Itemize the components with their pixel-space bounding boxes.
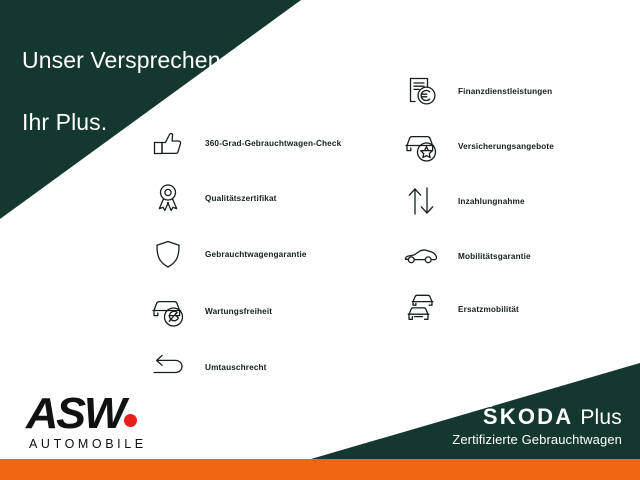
feature-label: Wartungsfreiheit xyxy=(205,306,272,317)
brand-lockup: ŠKODA Plus Zertifizierte Gebrauchtwagen xyxy=(452,405,622,448)
dealer-logo: ASW AUTOMOBILE xyxy=(26,392,186,451)
feature-label: Umtauschrecht xyxy=(205,362,267,373)
brand-program-label: Plus xyxy=(580,406,622,430)
feature-item-maintenance-free: Wartungsfreiheit xyxy=(145,288,272,334)
dealer-subtitle: AUTOMOBILE xyxy=(29,437,186,451)
headline-line-1: Unser Versprechen. xyxy=(22,45,227,76)
thumbs-up-icon xyxy=(145,120,191,166)
feature-label: Versicherungsangebote xyxy=(458,141,554,152)
car-side-icon xyxy=(398,233,444,279)
up-down-arrows-icon xyxy=(398,178,444,224)
feature-label: Mobilitätsgarantie xyxy=(458,251,531,262)
car-star-icon xyxy=(398,123,444,169)
car-wrench-icon xyxy=(145,288,191,334)
feature-label: Gebrauchtwagengarantie xyxy=(205,249,307,260)
orange-bottom-bar xyxy=(0,459,640,480)
feature-item-trade-in: Inzahlungnahme xyxy=(398,178,525,224)
dealer-logo-dot xyxy=(124,414,137,427)
feature-label: Ersatzmobilität xyxy=(458,304,519,315)
feature-label: Inzahlungnahme xyxy=(458,196,525,207)
feature-item-return-right: Umtauschrecht xyxy=(145,344,267,390)
feature-item-warranty: Gebrauchtwagengarantie xyxy=(145,231,307,277)
feature-item-replacement-mobility: Ersatzmobilität xyxy=(398,286,519,332)
dealer-wordmark-row: ASW xyxy=(26,392,186,436)
document-euro-icon xyxy=(398,68,444,114)
return-arrow-icon xyxy=(145,344,191,390)
feature-label: Finanzdienstleistungen xyxy=(458,86,552,97)
feature-item-quality-certificate: Qualitätszertifikat xyxy=(145,175,277,221)
feature-item-mobility-guarantee: Mobilitätsgarantie xyxy=(398,233,531,279)
quality-rosette-icon xyxy=(145,175,191,221)
feature-label: Qualitätszertifikat xyxy=(205,193,277,204)
brand-tagline: Zertifizierte Gebrauchtwagen xyxy=(452,432,622,448)
feature-label: 360-Grad-Gebrauchtwagen-Check xyxy=(205,138,341,149)
feature-item-financial-services: Finanzdienstleistungen xyxy=(398,68,552,114)
brand-wordmark: ŠKODA xyxy=(483,405,573,429)
two-cars-icon xyxy=(398,286,444,332)
feature-item-360-check: 360-Grad-Gebrauchtwagen-Check xyxy=(145,120,341,166)
shield-icon xyxy=(145,231,191,277)
brand-name-row: ŠKODA Plus xyxy=(452,405,622,430)
promo-banner: Unser Versprechen. Ihr Plus. 360-Grad-Ge… xyxy=(0,0,640,480)
feature-item-insurance: Versicherungsangebote xyxy=(398,123,554,169)
dealer-wordmark: ASW xyxy=(26,392,124,436)
